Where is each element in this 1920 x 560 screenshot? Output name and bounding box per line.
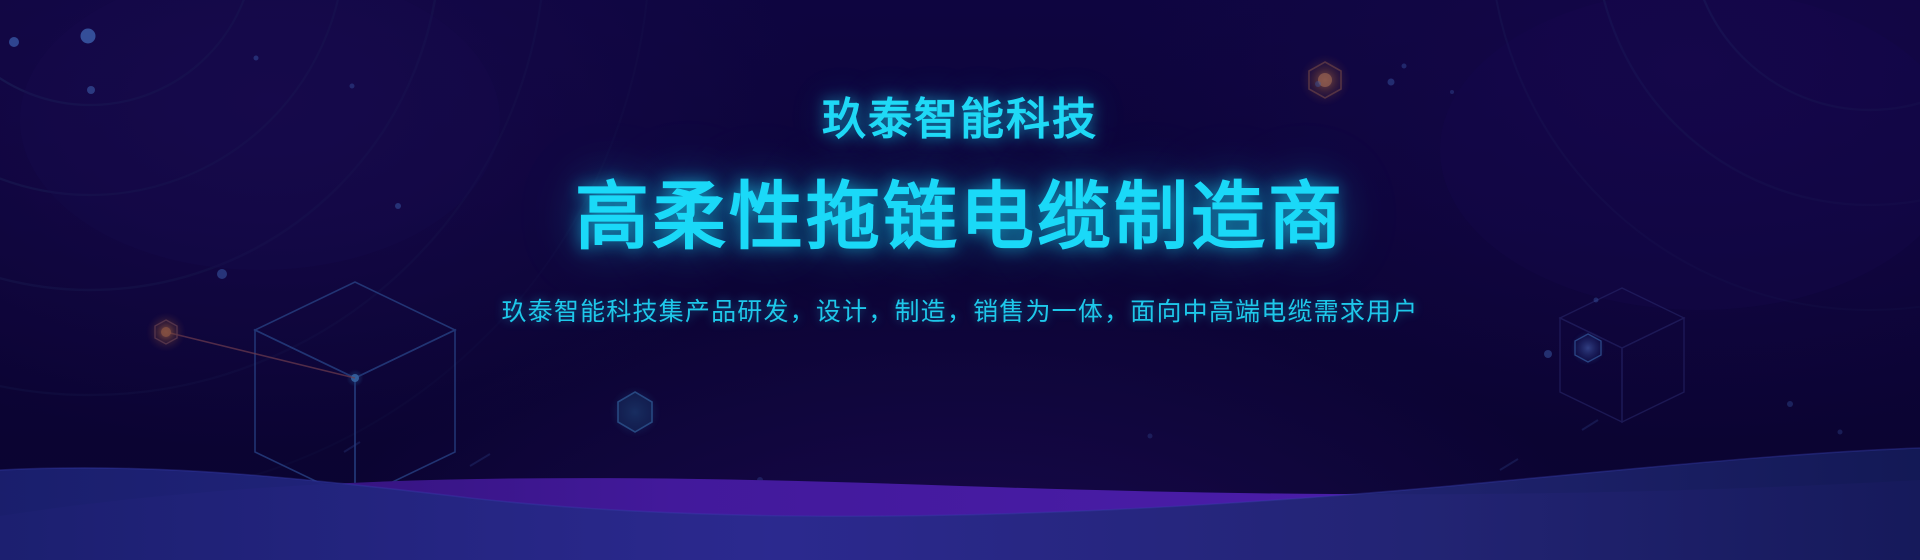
- haze-blobs: [20, 0, 1920, 310]
- wireframe-cube-left: [255, 282, 455, 500]
- hex-node-right: [1570, 330, 1606, 366]
- brand-name: 玖泰智能科技: [822, 98, 1098, 142]
- subtitle-text: 玖泰智能科技集产品研发，设计，制造，销售为一体，面向中高端电缆需求用户: [501, 300, 1418, 325]
- hero-banner: 玖泰智能科技 高柔性拖链电缆制造商 玖泰智能科技集产品研发，设计，制造，销售为一…: [0, 0, 1920, 560]
- hex-node-left: [146, 312, 186, 352]
- background-decorations: [0, 0, 1920, 560]
- glow-node-amber: [1299, 54, 1351, 106]
- hex-node-mid: [609, 386, 661, 438]
- headline-title: 高柔性拖链电缆制造商: [575, 180, 1345, 254]
- cube-connector-line: [170, 333, 355, 378]
